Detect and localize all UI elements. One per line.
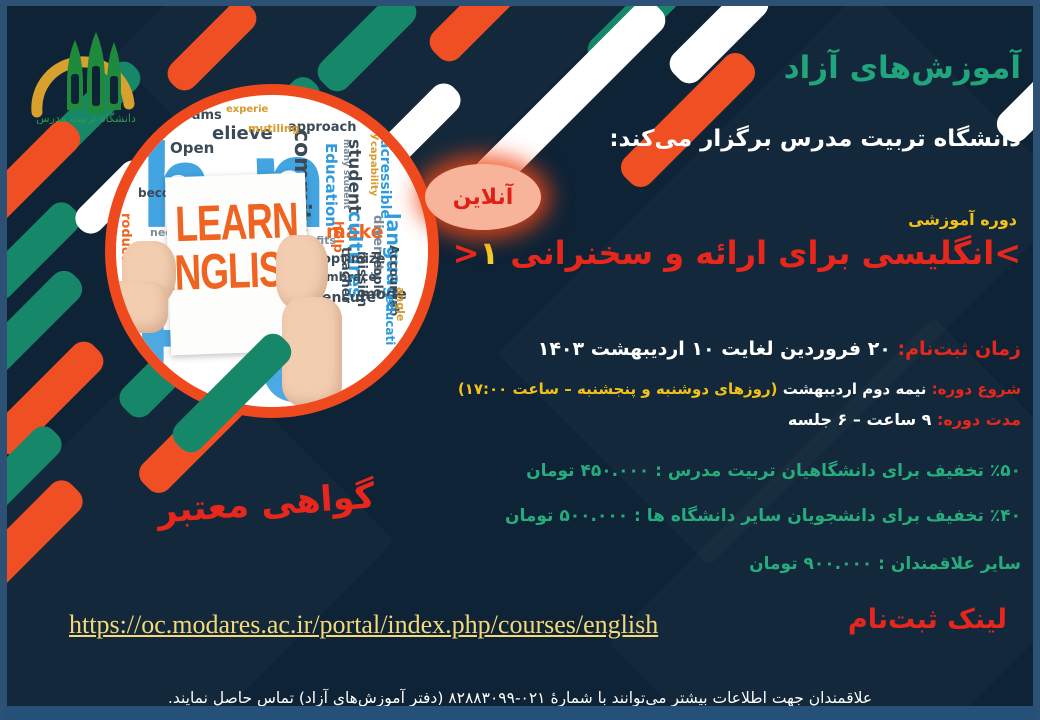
course-title: >انگلیسی برای ارائه و سخنرانی ۱< bbox=[453, 234, 1021, 272]
online-badge: آنلاین bbox=[425, 164, 541, 230]
logo-caption: دانشگاه تربیت مدرس bbox=[36, 112, 136, 124]
start-note: (روزهای دوشنبه و پنجشنبه – ساعت ۱۷:۰۰) bbox=[458, 380, 778, 398]
badge-label: آنلاین bbox=[425, 164, 541, 230]
course-title-close: < bbox=[453, 234, 480, 272]
course-title-open: > bbox=[994, 234, 1021, 272]
price-row: ٪۴۰ تخفیف برای دانشجویان سایر دانشگاه ها… bbox=[505, 506, 1021, 526]
course-title-number: ۱ bbox=[480, 234, 500, 272]
university-logo: دانشگاه تربیت مدرس bbox=[21, 24, 151, 124]
price-amount: ۹۰۰.۰۰۰ تومان bbox=[749, 554, 872, 574]
price-text: تخفیف برای دانشجویان سایر دانشگاه ها : bbox=[634, 506, 984, 526]
price-amount: ۵۰۰.۰۰۰ تومان bbox=[505, 506, 628, 526]
organizer-line: دانشگاه تربیت مدرس برگزار می‌کند: bbox=[609, 126, 1021, 152]
registration-link-url[interactable]: https://oc.modares.ac.ir/portal/index.ph… bbox=[69, 610, 658, 640]
registration-link-label: لینک ثبت‌نام bbox=[848, 604, 1007, 635]
registration-value: ۲۰ فروردین لغایت ۱۰ اردیبهشت ۱۴۰۳ bbox=[538, 338, 891, 360]
price-amount: ۴۵۰.۰۰۰ تومان bbox=[526, 461, 649, 481]
course-title-text: انگلیسی برای ارائه و سخنرانی bbox=[510, 234, 994, 272]
price-text: سایر علاقمندان : bbox=[878, 554, 1021, 574]
hand-left-arm bbox=[116, 281, 168, 333]
duration-label: مدت دوره: bbox=[937, 410, 1021, 429]
price-discount: ٪۴۰ bbox=[990, 506, 1021, 526]
poster-canvas: دانشگاه تربیت مدرس h n P e approach cent… bbox=[0, 0, 1040, 720]
course-kicker: دوره آموزشی bbox=[908, 210, 1017, 229]
start-label: شروع دوره: bbox=[932, 380, 1021, 398]
duration-value: ۹ ساعت – ۶ جلسه bbox=[788, 410, 931, 429]
footer-contact: علاقمندان جهت اطلاعات بیشتر می‌توانند با… bbox=[7, 682, 1033, 714]
duration-row: مدت دوره: ۹ ساعت – ۶ جلسه bbox=[788, 410, 1021, 429]
price-row: سایر علاقمندان : ۹۰۰.۰۰۰ تومان bbox=[749, 554, 1021, 574]
registration-label: زمان ثبت‌نام: bbox=[898, 338, 1021, 360]
price-text: تخفیف برای دانشگاهیان تربیت مدرس : bbox=[655, 461, 984, 481]
start-value: نیمه دوم اردیبهشت bbox=[783, 380, 927, 398]
start-row: شروع دوره: نیمه دوم اردیبهشت (روزهای دوش… bbox=[458, 380, 1021, 398]
price-discount: ٪۵۰ bbox=[990, 461, 1021, 481]
page-title: آموزش‌های آزاد bbox=[784, 50, 1021, 86]
price-row: ٪۵۰ تخفیف برای دانشگاهیان تربیت مدرس : ۴… bbox=[526, 461, 1021, 481]
registration-row: زمان ثبت‌نام: ۲۰ فروردین لغایت ۱۰ اردیبه… bbox=[538, 338, 1021, 360]
